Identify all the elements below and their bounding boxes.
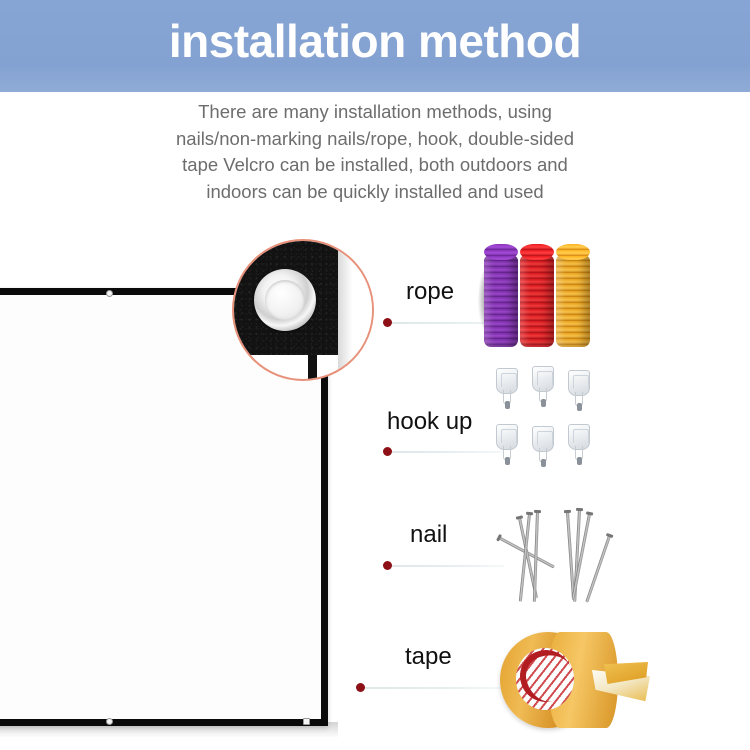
page-title: installation method <box>0 8 750 74</box>
eyelet-icon <box>254 269 316 331</box>
connector-dot <box>356 683 365 692</box>
adhesive-hook-icon <box>530 426 556 468</box>
method-label-tape: tape <box>405 643 452 671</box>
intro-paragraph: There are many installation methods, usi… <box>75 99 675 205</box>
tape-image <box>496 626 656 738</box>
intro-line-4: indoors can be quickly installed and use… <box>75 179 675 206</box>
adhesive-hook-icon <box>494 368 520 410</box>
nail-icon <box>585 536 611 603</box>
connector-line <box>392 565 504 567</box>
adhesive-hook-icon <box>566 370 592 412</box>
rope-coil-orange <box>556 255 590 347</box>
adhesive-hook-icon <box>494 424 520 466</box>
rope-coil-red <box>520 255 554 347</box>
method-label-rope: rope <box>406 278 454 306</box>
method-label-nail: nail <box>410 521 447 549</box>
connector-dot <box>383 318 392 327</box>
connector-dot <box>383 561 392 570</box>
tape-core <box>516 648 574 710</box>
eyelet-hole <box>265 280 305 320</box>
method-label-hook-up: hook up <box>387 408 472 436</box>
grommet-icon <box>106 718 113 725</box>
screen-surface-zoom <box>338 241 374 381</box>
rope-coil-purple <box>484 255 518 347</box>
infographic-page: installation method There are many insta… <box>0 0 750 750</box>
intro-line-2: nails/non-marking nails/rope, hook, doub… <box>75 126 675 153</box>
screen-border-fabric-lower <box>308 355 317 381</box>
connector-dot <box>383 447 392 456</box>
connector-line <box>365 687 505 689</box>
connector-line <box>392 451 502 453</box>
intro-line-3: tape Velcro can be installed, both outdo… <box>75 152 675 179</box>
adhesive-hook-icon <box>530 366 556 408</box>
rope-image <box>478 243 608 358</box>
header-banner: installation method <box>0 0 750 92</box>
intro-line-1: There are many installation methods, usi… <box>75 99 675 126</box>
grommet-magnifier-callout <box>232 239 374 381</box>
hooks-image <box>494 368 598 470</box>
grommet-icon <box>106 290 113 297</box>
nail-icon <box>572 514 591 599</box>
nails-image <box>492 500 642 600</box>
adhesive-hook-icon <box>566 424 592 466</box>
grommet-icon <box>303 718 310 725</box>
